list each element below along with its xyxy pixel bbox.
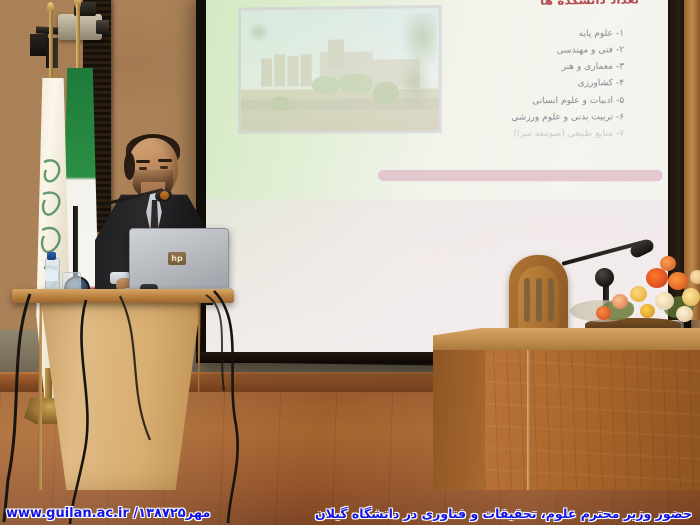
presenter-brow-right	[158, 159, 172, 162]
slide-item-label: منابع طبیعی (صومعه سرا)	[514, 129, 614, 140]
slide-item-label: کشاورزی	[578, 79, 614, 90]
chair-slat-2	[536, 278, 542, 322]
desk-side-panel	[433, 338, 485, 490]
photo-block-3	[287, 56, 298, 86]
presenter-brow-left	[136, 160, 150, 163]
slide-accent-bar	[378, 170, 663, 181]
slide-item-num: ۳-	[616, 62, 624, 72]
desk-panel-seam	[527, 345, 531, 490]
slide-list-item: ۳- معماری و هنر	[511, 59, 624, 77]
photo-tree-2	[338, 74, 373, 94]
slide-title: تعداد دانشکده ها	[540, 0, 639, 8]
flower-yellow-1	[630, 286, 647, 302]
flower-orange-3	[660, 256, 676, 271]
flower-peach-1	[612, 294, 628, 309]
slide-item-label: فنی و مهندسی	[556, 45, 613, 56]
desk-mic-adjuster	[595, 268, 614, 287]
slide-item-num: ۱-	[616, 28, 624, 38]
slide-list-item: ۲- فنی و مهندسی	[511, 42, 624, 60]
slide-item-num: ۲-	[616, 45, 624, 55]
bottle-cap	[47, 252, 56, 260]
slide-item-num: ۶-	[616, 112, 624, 122]
screenshot-photo: تعداد دانشکده ها ۱- علوم پایه ۲- فنی و م…	[0, 0, 700, 525]
photo-block-2	[274, 54, 285, 86]
flower-yellow-3	[640, 304, 655, 318]
slide-list-item: ۱- علوم پایه	[511, 25, 624, 43]
photo-block-4	[300, 54, 311, 86]
slide-list-item: ۷- منابع طبیعی (صومعه سرا)	[511, 125, 624, 142]
photo-building-tower	[328, 40, 344, 66]
chair-slat-3	[548, 278, 554, 322]
photo-palm-tree	[389, 12, 436, 126]
flower-orange-1	[668, 272, 688, 290]
photo-foliage-left	[247, 18, 273, 52]
floor-cables-right	[200, 285, 380, 525]
slide-item-num: ۴-	[616, 78, 624, 88]
slide-list-item: ۴- کشاورزی	[511, 75, 624, 92]
mic-windscreen	[160, 191, 169, 200]
slide-list-item: ۵- ادبیات و علوم انسانی	[511, 92, 624, 109]
slide-campus-photo	[238, 5, 442, 134]
desk-top-surface	[433, 328, 700, 350]
slide-item-label: علوم پایه	[579, 29, 613, 40]
flower-white-1	[655, 292, 674, 310]
slide-item-num: ۷-	[616, 129, 624, 139]
flower-red-1	[646, 268, 668, 288]
flag-pole-left	[49, 10, 53, 80]
slide-list-item: ۶- تربیت بدنی و علوم ورزشی	[511, 109, 624, 126]
camera-lens	[96, 20, 109, 34]
slide-item-num: ۵-	[616, 95, 624, 105]
slide-item-label: ادبیات و علوم انسانی	[532, 95, 613, 106]
slide-item-label: تربیت بدنی و علوم ورزشی	[511, 112, 613, 123]
flower-cream-1	[690, 270, 700, 284]
photo-bush-1	[269, 96, 291, 110]
chair-slat-1	[524, 278, 530, 322]
slide-item-label: معماری و هنر	[562, 62, 614, 73]
presenter-eye-right	[160, 166, 168, 169]
slide-bullet-list: ۱- علوم پایه ۲- فنی و مهندسی ۳- معماری و…	[511, 25, 624, 142]
flower-orange-2	[596, 306, 611, 320]
photo-block-1	[261, 58, 272, 86]
laptop-brand-logo: hp	[168, 252, 186, 265]
flower-white-2	[676, 306, 693, 322]
flower-yellow-2	[682, 288, 700, 306]
photo-tree-1	[312, 76, 340, 94]
flag-pole-right	[76, 4, 80, 72]
